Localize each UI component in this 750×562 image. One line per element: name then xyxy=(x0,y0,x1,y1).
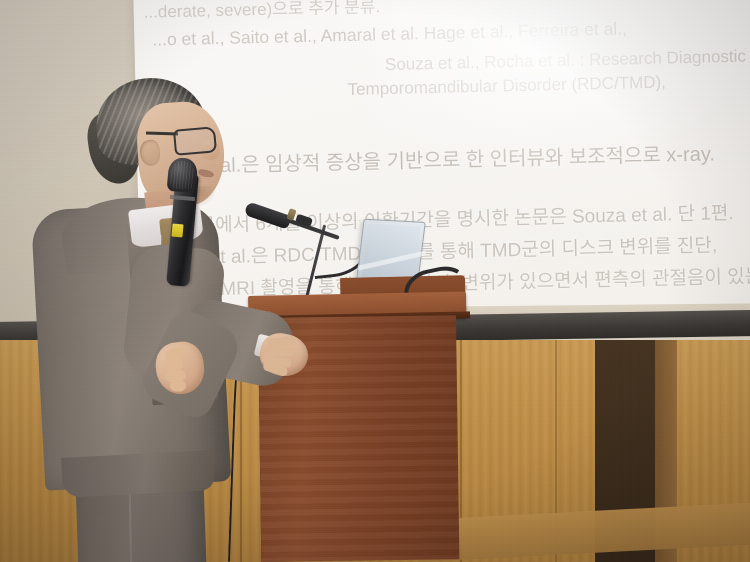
slide-text-line-5: Temporomandibular Disorder (RDC/TMD), xyxy=(347,73,666,98)
slide-text-line-3: ...o et al., Saito et al., Amaral et al.… xyxy=(152,20,627,49)
laptop-screen-reflection xyxy=(358,250,426,270)
jacket-hem xyxy=(61,450,215,498)
presenter xyxy=(34,78,269,562)
slide-text-line-2: ...derate, severe)으로 추가 분류. xyxy=(144,0,381,21)
knuckle xyxy=(170,380,186,392)
eyeglasses-lens xyxy=(173,126,217,156)
microphone-grille xyxy=(170,160,195,190)
slide-text-line-4: Souza et al., Rocha et al. : Research Di… xyxy=(385,46,750,74)
handheld-microphone-head xyxy=(167,157,199,193)
lecture-photo-scene: ...어 3개의 집단(Mild, ...derate, severe)으로 추… xyxy=(0,0,750,562)
microphone-label-sticker xyxy=(171,224,183,238)
